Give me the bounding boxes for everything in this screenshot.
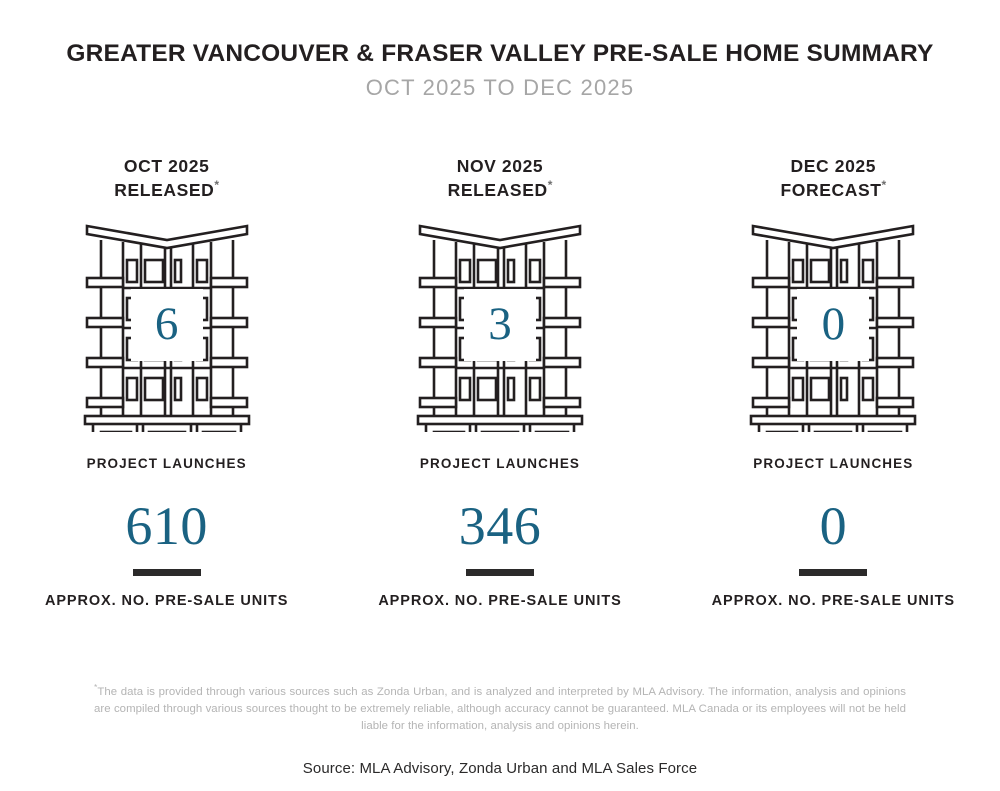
column-status-text: FORECAST [780, 180, 881, 200]
summary-column-oct: OCT 2025 RELEASED* [0, 156, 333, 609]
page-title: GREATER VANCOUVER & FRASER VALLEY PRE-SA… [0, 40, 1000, 68]
presale-units-value: 346 [459, 499, 542, 553]
column-month-label: OCT 2025 [114, 156, 219, 177]
stat-underline-rule [133, 569, 201, 576]
stat-underline-rule [466, 569, 534, 576]
column-status-text: RELEASED [114, 180, 214, 200]
column-month-label: DEC 2025 [780, 156, 886, 177]
disclaimer-body: The data is provided through various sou… [94, 686, 906, 732]
building-illustration: 0 [745, 218, 921, 432]
building-illustration: 6 [79, 218, 255, 432]
presale-units-label: APPROX. NO. PRE-SALE UNITS [712, 593, 955, 609]
column-status-text: RELEASED [448, 180, 548, 200]
summary-column-nov: NOV 2025 RELEASED* [333, 156, 666, 609]
project-launch-count: 0 [822, 301, 846, 348]
column-status-label: FORECAST* [780, 178, 886, 201]
project-launch-count-badge: 0 [797, 289, 869, 361]
stat-underline-rule [799, 569, 867, 576]
presale-units-label: APPROX. NO. PRE-SALE UNITS [378, 593, 621, 609]
asterisk-marker: * [882, 178, 887, 192]
project-launch-count-badge: 6 [131, 289, 203, 361]
presale-units-label: APPROX. NO. PRE-SALE UNITS [45, 593, 288, 609]
column-header: OCT 2025 RELEASED* [114, 156, 219, 201]
building-illustration: 3 [412, 218, 588, 432]
page-subtitle: OCT 2025 TO DEC 2025 [0, 75, 1000, 100]
asterisk-marker: * [214, 178, 219, 192]
column-header: DEC 2025 FORECAST* [780, 156, 886, 201]
infographic-root: GREATER VANCOUVER & FRASER VALLEY PRE-SA… [0, 0, 1000, 791]
summary-columns: OCT 2025 RELEASED* [0, 156, 1000, 609]
disclaimer-text: *The data is provided through various so… [94, 681, 906, 734]
header: GREATER VANCOUVER & FRASER VALLEY PRE-SA… [0, 0, 1000, 100]
project-launch-count: 3 [488, 301, 512, 348]
asterisk-marker: * [548, 178, 553, 192]
presale-units-value: 610 [125, 499, 208, 553]
column-month-label: NOV 2025 [448, 156, 553, 177]
column-status-label: RELEASED* [114, 178, 219, 201]
project-launch-count-badge: 3 [464, 289, 536, 361]
project-launches-label: PROJECT LAUNCHES [87, 456, 247, 471]
presale-units-value: 0 [820, 499, 848, 553]
column-status-label: RELEASED* [448, 178, 553, 201]
column-header: NOV 2025 RELEASED* [448, 156, 553, 201]
summary-column-dec: DEC 2025 FORECAST* [667, 156, 1000, 609]
project-launch-count: 6 [155, 301, 179, 348]
project-launches-label: PROJECT LAUNCHES [420, 456, 580, 471]
source-line: Source: MLA Advisory, Zonda Urban and ML… [0, 760, 1000, 777]
project-launches-label: PROJECT LAUNCHES [753, 456, 913, 471]
